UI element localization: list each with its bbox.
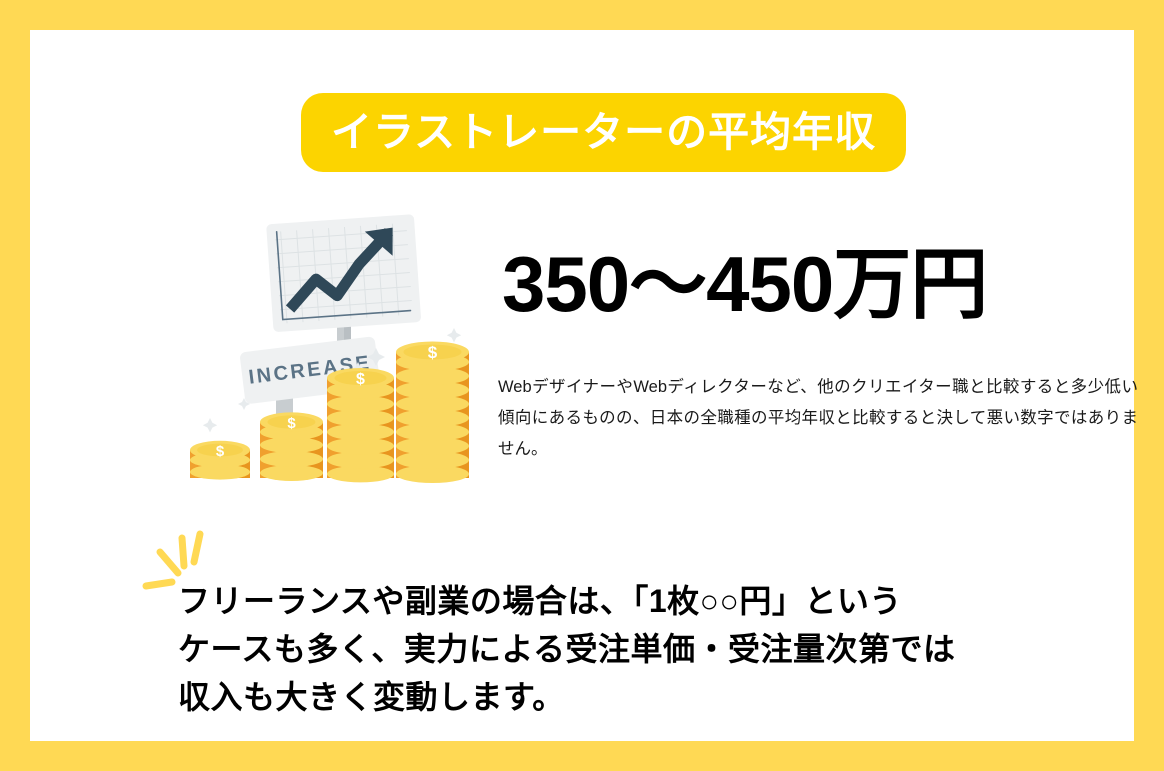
bottom-emphasis-text: フリーランスや副業の場合は、「1枚○○円」という ケースも多く、実力による受注単… bbox=[178, 577, 1098, 721]
bottom-line-3: 収入も大きく変動します。 bbox=[178, 673, 1098, 721]
svg-text:$: $ bbox=[356, 371, 365, 388]
bottom-line-2: ケースも多く、実力による受注単価・受注量次第では bbox=[178, 625, 1098, 673]
white-card: イラストレーターの平均年収 bbox=[30, 30, 1134, 741]
coin-stack-2: $ bbox=[260, 412, 323, 481]
chart-board bbox=[266, 214, 421, 332]
coin-stack-3: $ bbox=[327, 368, 394, 482]
svg-text:$: $ bbox=[216, 443, 225, 460]
bottom-line-1: フリーランスや副業の場合は、「1枚○○円」という bbox=[178, 577, 1098, 625]
title-badge: イラストレーターの平均年収 bbox=[301, 93, 906, 172]
coin-stack-4: $ bbox=[396, 342, 469, 484]
title-badge-label: イラストレーターの平均年収 bbox=[331, 112, 876, 153]
growth-illustration: INCREASE bbox=[180, 210, 480, 500]
description-paragraph: WebデザイナーやWebディレクターなど、他のクリエイター職と比較すると多少低い… bbox=[498, 372, 1138, 465]
outer-yellow-frame: イラストレーターの平均年収 bbox=[0, 0, 1164, 771]
salary-headline: 350〜450万円 bbox=[502, 245, 987, 323]
svg-text:$: $ bbox=[287, 415, 296, 432]
svg-text:$: $ bbox=[428, 343, 438, 362]
coin-stack-1: $ bbox=[190, 441, 250, 480]
